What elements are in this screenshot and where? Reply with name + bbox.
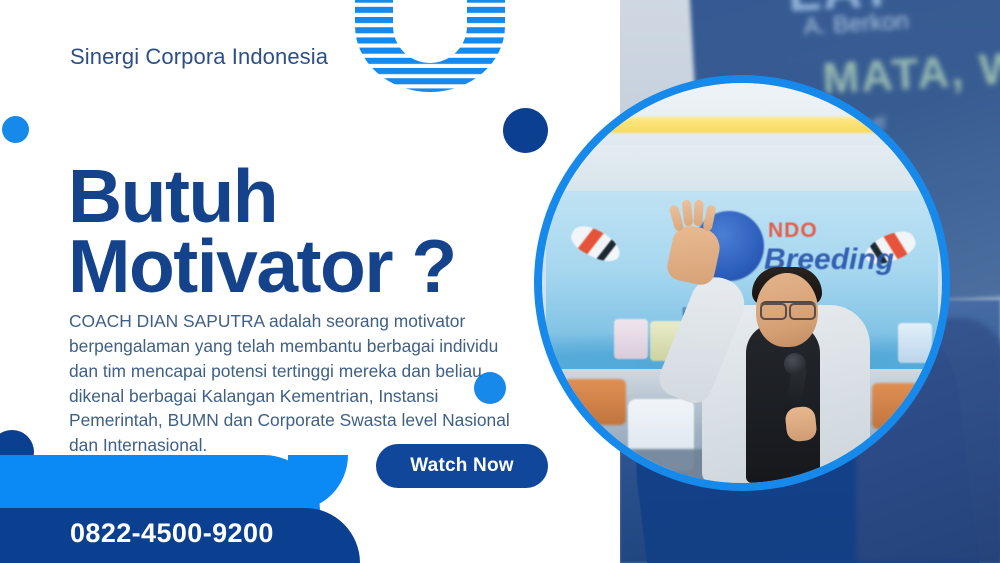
portrait-product-a (614, 319, 648, 359)
striped-u-logo-icon (355, 0, 505, 92)
speaker-shirt (746, 323, 820, 483)
speaker-portrait-ring: NDO Breeding Breeder Gathering & Trainin… (534, 75, 950, 491)
portrait-product-e (898, 323, 932, 363)
headline-line-2: Motivator ? (68, 224, 456, 308)
watch-now-button[interactable]: Watch Now (376, 444, 548, 488)
description-text: COACH DIAN SAPUTRA adalah seorang motiva… (69, 309, 519, 457)
eyeglasses-icon (760, 301, 816, 316)
portrait-chair-right (872, 383, 934, 429)
slide-text-line2: A. Berkon (803, 8, 910, 42)
portrait-light-bar (584, 117, 884, 133)
bottom-band-light (0, 455, 320, 511)
speaker-portrait: NDO Breeding Breeder Gathering & Trainin… (542, 83, 942, 483)
page-title: ButuhMotivator ? (68, 162, 456, 302)
promo-banner: LAT A. Berkon MATA, W (ikuti NDO Breedin… (0, 0, 1000, 563)
speaker-figure (710, 279, 860, 483)
microphone-head-icon (784, 353, 806, 375)
phone-number[interactable]: 0822-4500-9200 (70, 518, 274, 549)
portrait-chair-left (564, 379, 626, 425)
speaker-mic-hand (784, 406, 817, 443)
decorative-dot-top-left (2, 116, 29, 143)
speaker-finger-3 (693, 200, 703, 226)
portrait-banner-brand: NDO (768, 219, 818, 243)
brand-name: Sinergi Corpora Indonesia (70, 44, 328, 70)
